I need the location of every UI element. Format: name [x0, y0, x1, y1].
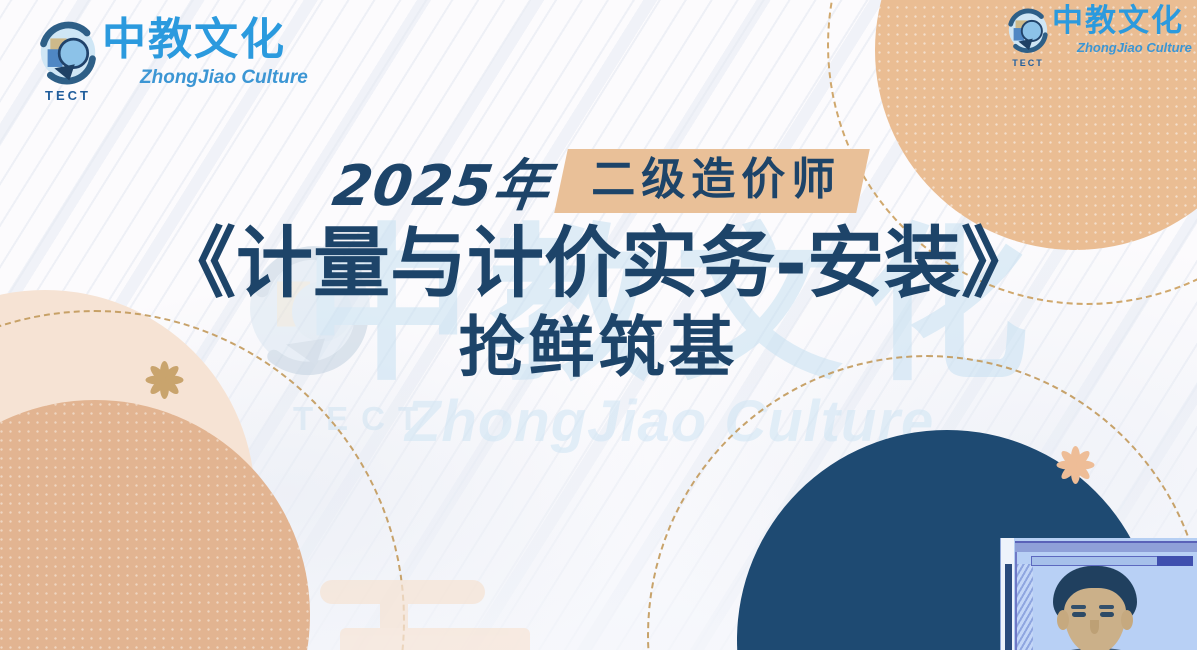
brand-abbrev-text: TECT [34, 88, 102, 103]
presenter-figure [1031, 566, 1159, 650]
corner-brand-latin-name: ZhongJiao Culture [1077, 40, 1192, 55]
brand-emblem-icon [34, 18, 102, 86]
presenter-webcam-overlay[interactable] [1000, 538, 1197, 650]
corner-brand-abbrev-text: TECT [1004, 58, 1052, 68]
brand-logo-text: 中教文化 ZhongJiao Culture [102, 18, 308, 89]
slide-subtitle: 抢鲜筑基 [0, 313, 1197, 382]
brand-cjk-name: 中教文化 [102, 18, 308, 62]
slide-title: 《计量与计价实务-安装》 [0, 226, 1197, 305]
corner-brand-logo: 中教文化 ZhongJiao Culture [1004, 6, 1192, 55]
brand-latin-name: ZhongJiao Culture [140, 67, 308, 89]
headline-eyebrow-row: 2025年 二级造价师 [0, 148, 1197, 214]
webcam-window-addressfield [1157, 556, 1193, 566]
presentation-slide: 中教文化 ZhongJiao Culture TECT [0, 0, 1197, 650]
certification-banner: 二级造价师 [554, 149, 870, 213]
webcam-window-toolbar [1031, 556, 1171, 566]
bottom-podium-ornament [320, 580, 550, 650]
flower-ornament-icon [1053, 443, 1097, 487]
webcam-window-titlebar [1015, 541, 1197, 552]
brand-logo: 中教文化 ZhongJiao Culture [34, 18, 308, 89]
corner-brand-emblem-icon [1004, 6, 1052, 54]
webcam-room-edge [1001, 538, 1014, 650]
slide-headline: 2025年 二级造价师 《计量与计价实务-安装》 抢鲜筑基 [0, 148, 1197, 382]
certification-label: 二级造价师 [591, 157, 841, 203]
exam-year-label: 2025年 [328, 141, 566, 222]
corner-brand-cjk-name: 中教文化 [1052, 6, 1192, 37]
corner-brand-logo-text: 中教文化 ZhongJiao Culture [1052, 6, 1192, 55]
